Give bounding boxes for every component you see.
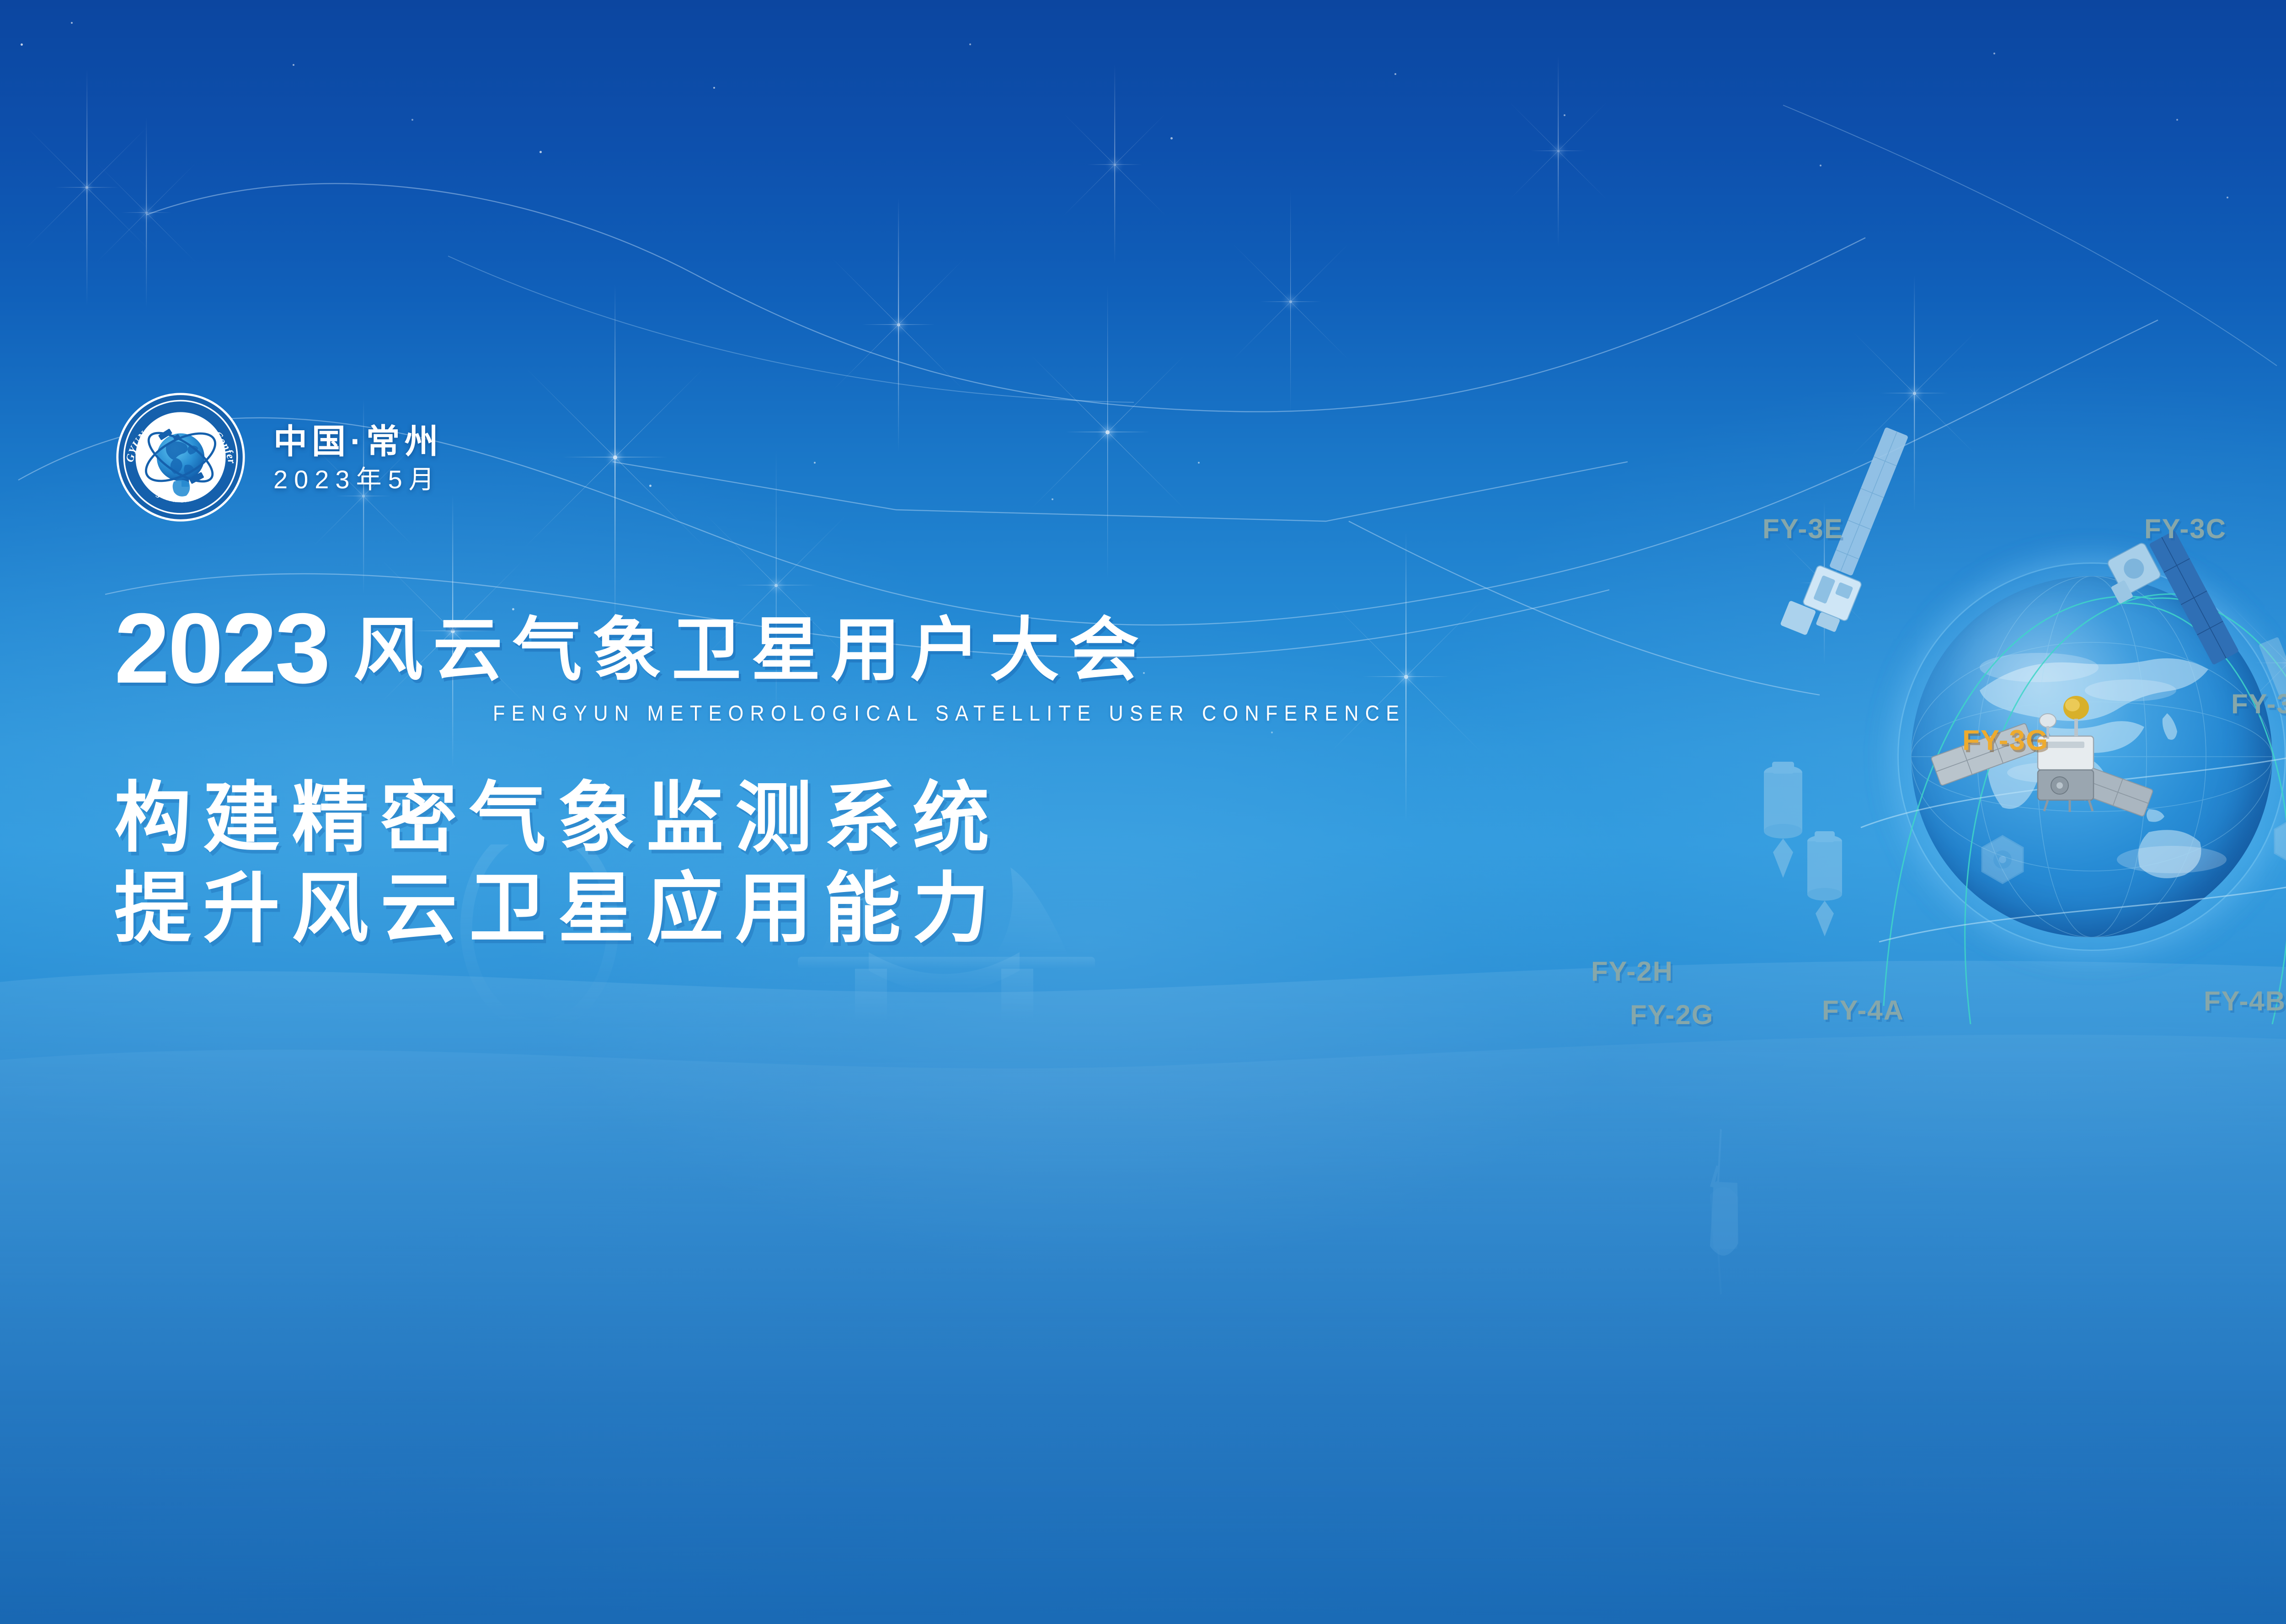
star-dot [1820,165,1821,166]
star-dot [713,87,715,89]
satellite-label-fy2h: FY-2H [1591,956,1673,987]
satellite-label-fy2g: FY-2G [1630,999,1714,1031]
slogan-line-2: 提升风云卫星应用能力 [114,863,1001,954]
sparkle-star-icon [562,283,668,631]
satellite-label-fy3e: FY-3E [1763,513,1843,545]
sparkle-star-icon [121,117,171,309]
logo-text-block: 中国·常州 2023年5月 [273,422,443,492]
logo-block: FENGYUN Satellite User Conference Changz… [114,391,443,524]
star-dot [1271,732,1273,733]
sparkle-star-icon [1260,187,1321,416]
star-dot [71,22,73,24]
satellite-label-fy3c: FY-3C [2144,513,2227,545]
satellite-fy4b-icon [2275,817,2286,865]
sparkle-star-icon [862,197,935,453]
satellite-fy2g-icon [1807,831,1842,936]
event-city: 中国·常州 [273,425,443,459]
conference-title-cn: 风云气象卫星用户大会 [353,615,1149,691]
star-dot [969,43,971,45]
star-dot [1564,114,1565,116]
star-dot [411,119,413,121]
headline-block: 2023 风云气象卫星用户大会 FENGYUN METEOROLOGICAL S… [114,606,1485,724]
satellite-fy4a-icon [1982,836,2023,883]
conference-seal-logo: FENGYUN Satellite User Conference Changz… [114,391,247,524]
star-dot [293,64,294,66]
satellite-fy2h-icon [1764,762,1802,878]
satellite-label-fy3d: FY-3D [2231,688,2286,720]
conference-poster: FENGYUN Satellite User Conference Changz… [0,0,2286,1624]
satellite-label-fy4b: FY-4B [2204,985,2286,1017]
glow-bottom [0,1039,2286,1624]
seal-icon: FENGYUN Satellite User Conference Changz… [114,391,247,524]
star-dot [21,43,23,46]
star-dot [1394,73,1396,75]
star-dot [649,485,652,487]
star-dot [2227,197,2228,198]
sparkle-star-icon [1531,55,1586,247]
title-row: 2023 风云气象卫星用户大会 [114,606,1485,691]
star-dot [814,462,816,464]
globe-satellite-graphic [1833,480,2286,1029]
star-dot [539,151,542,153]
orbit-paths [1833,480,2286,1029]
satellite-label-fy4a: FY-4A [1822,994,1904,1026]
conference-title-en: FENGYUN METEOROLOGICAL SATELLITE USER CO… [493,702,1405,724]
slogan-block: 构建精密气象监测系统 提升风云卫星应用能力 [114,773,1001,954]
event-year: 2023 [114,606,329,691]
star-dot [1170,137,1173,139]
slogan-line-1: 构建精密气象监测系统 [114,773,1001,863]
star-dot [2176,119,2178,121]
sparkle-star-icon [1087,64,1142,265]
sparkle-star-icon [55,69,119,306]
star-dot [1198,462,1200,464]
satellite-label-fy3g: FY-3G [1962,724,2049,757]
satellite-fy3c-icon [2099,526,2239,690]
sparkle-star-icon [1065,283,1150,581]
event-date: 2023年5月 [273,467,443,492]
star-dot [1993,53,1995,54]
star-dot [1052,498,1053,500]
